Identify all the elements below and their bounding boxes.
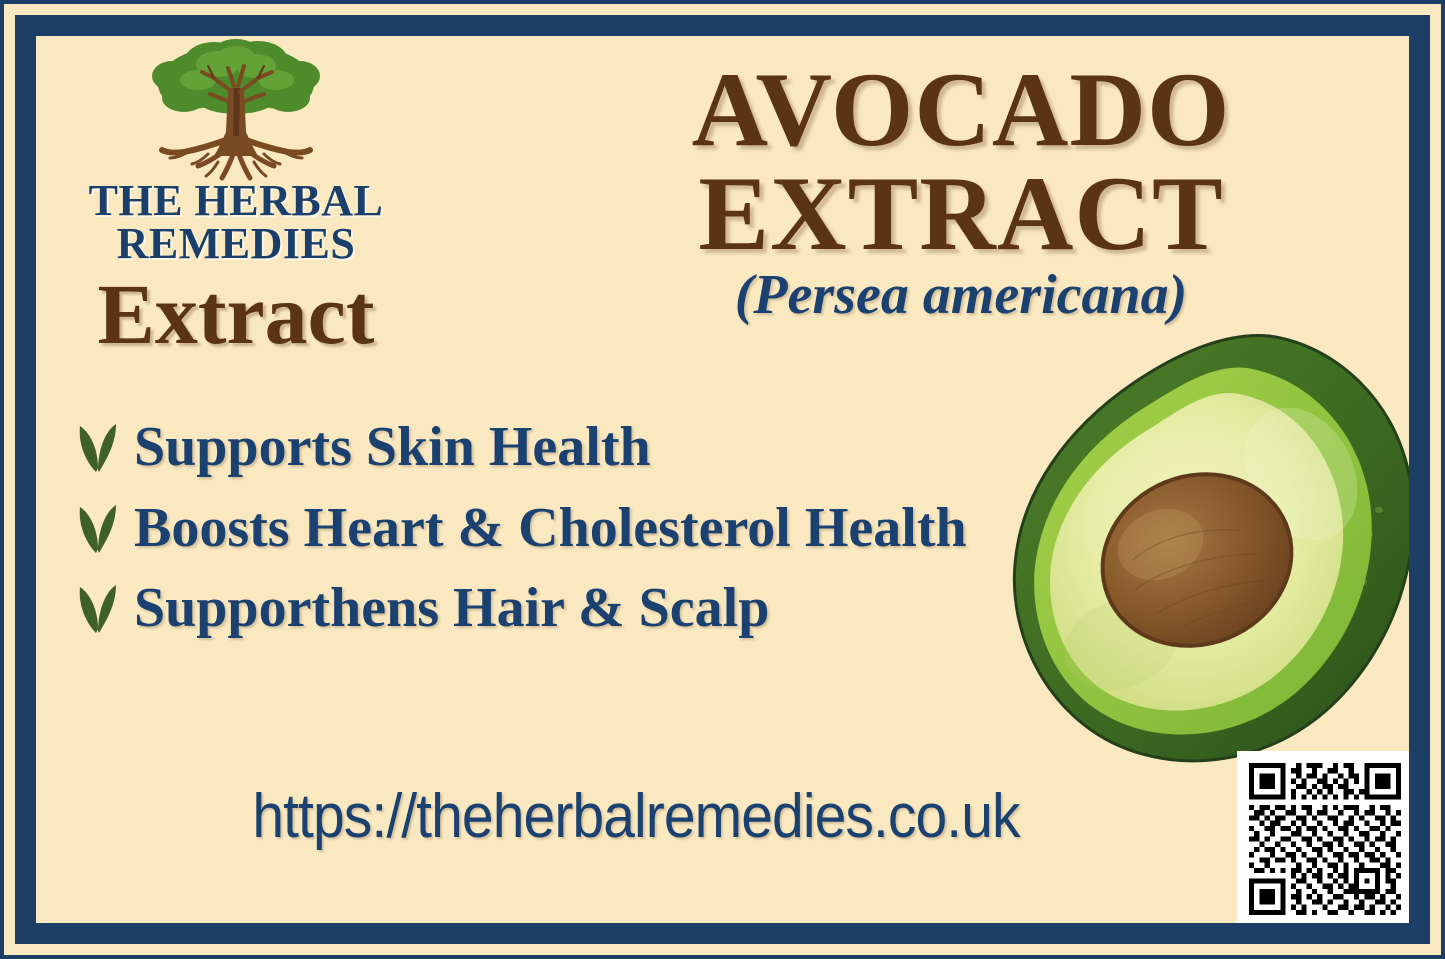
qr-code-panel[interactable] (1237, 751, 1409, 923)
benefit-label: Boosts Heart & Cholesterol Health (134, 497, 967, 560)
website-url[interactable]: https://theherbalremedies.co.uk (222, 781, 1050, 852)
benefits-list: Supports Skin Health Boosts Heart & Chol… (76, 416, 996, 658)
benefit-label: Supporthens Hair & Scalp (134, 577, 769, 640)
brand-name: THE HERBAL REMEDIES (56, 180, 416, 265)
brand-name-line2: REMEDIES (56, 223, 416, 266)
qr-code-icon[interactable] (1249, 763, 1401, 915)
benefit-item: Supporthens Hair & Scalp (76, 577, 996, 640)
brand-name-line1: THE HERBAL (89, 176, 384, 225)
label-border-gap: THE HERBAL REMEDIES Extract AVOCADO EXTR… (4, 4, 1441, 955)
leaf-check-icon (76, 422, 120, 474)
tree-with-roots-icon (148, 36, 324, 184)
product-word: Extract (56, 271, 416, 357)
brand-logo-block: THE HERBAL REMEDIES Extract (56, 36, 416, 357)
leaf-check-icon (76, 503, 120, 555)
benefit-label: Supports Skin Health (134, 416, 651, 479)
benefit-item: Boosts Heart & Cholesterol Health (76, 497, 996, 560)
benefit-item: Supports Skin Health (76, 416, 996, 479)
headline-block: AVOCADO EXTRACT (Persea americana) (581, 54, 1341, 323)
leaf-check-icon (76, 583, 120, 635)
headline-line-2: EXTRACT (581, 165, 1341, 263)
headline-line-1: AVOCADO (581, 54, 1341, 165)
botanical-name: (Persea americana) (581, 267, 1341, 323)
avocado-half-icon (1001, 324, 1409, 774)
label-content-area: THE HERBAL REMEDIES Extract AVOCADO EXTR… (36, 36, 1409, 923)
product-label: THE HERBAL REMEDIES Extract AVOCADO EXTR… (0, 0, 1445, 959)
label-border-band: THE HERBAL REMEDIES Extract AVOCADO EXTR… (15, 15, 1430, 944)
label-border-outer: THE HERBAL REMEDIES Extract AVOCADO EXTR… (0, 0, 1445, 959)
